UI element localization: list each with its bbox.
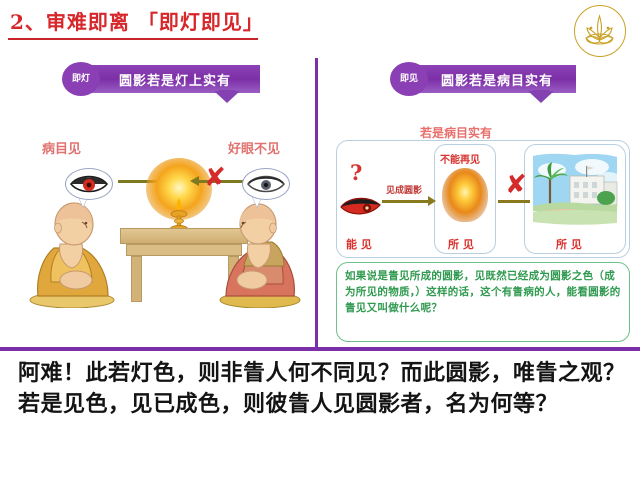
right-panel-heading: 若是病目实有	[420, 124, 492, 141]
question-mark-label: ?	[350, 160, 362, 185]
red-x-icon: ✘	[505, 172, 527, 198]
right-panel-badge: 即见	[390, 62, 428, 96]
red-eye-icon	[65, 168, 113, 200]
normal-eye-icon	[242, 168, 290, 200]
palm-building-scene-icon	[530, 150, 620, 230]
red-x-icon: ✘	[204, 165, 226, 191]
explanatory-note-box: 如果说是眚见所成的圆影，见既然已经成为圆影之色（成为所见的物质，）这样的话，这个…	[336, 262, 630, 342]
glowing-orb-icon	[442, 168, 488, 222]
vertical-divider	[315, 58, 318, 348]
label-cannot-see-again: 不能再见	[440, 151, 480, 166]
label-healthy-eye-not-sees: 好眼不见	[228, 138, 280, 157]
right-banner-arrow-icon	[528, 91, 554, 103]
arrow-label-becomes-round-shadow: 见成圆影	[386, 183, 422, 196]
slide-canvas: 2、审难即离 「即灯即见」 圆影若是灯上实有 即灯 圆影若是病目实有	[0, 0, 640, 479]
right-panel-badge-label: 即见	[400, 74, 418, 84]
left-panel-badge-label: 即灯	[72, 74, 90, 84]
arrow-healthy-eye-head-icon	[190, 176, 199, 186]
label-seen-orb: 所 见	[448, 236, 474, 252]
table-leg	[131, 256, 142, 302]
left-panel-badge: 即灯	[62, 62, 100, 96]
right-banner-label: 圆影若是病目实有	[418, 65, 576, 93]
left-banner-arrow-icon	[214, 91, 240, 103]
arrow-eye-to-orb	[382, 200, 430, 203]
title-underline	[8, 38, 258, 40]
seated-monk-left-icon	[24, 196, 120, 308]
label-diseased-eye-sees: 病目见	[42, 138, 81, 157]
horizontal-divider	[0, 347, 640, 351]
label-seen-scene: 所 见	[556, 236, 582, 252]
arrow-eye-to-orb-head-icon	[428, 196, 436, 206]
label-can-see: 能 见	[346, 236, 372, 252]
seated-monk-right-icon	[214, 200, 306, 308]
sutra-text: 阿难！此若灯色，则非眚人何不同见？而此圆影，唯眚之观？ 若是见色，见已成色，则彼…	[18, 358, 628, 420]
explanatory-note-text: 如果说是眚见所成的圆影，见既然已经成为圆影之色（成为所见的物质，）这样的话，这个…	[345, 268, 621, 316]
lotus-logo-icon	[574, 5, 626, 57]
page-title: 2、审难即离 「即灯即见」	[10, 6, 264, 35]
left-banner-label: 圆影若是灯上实有	[90, 65, 260, 93]
red-eye-icon	[340, 194, 382, 218]
